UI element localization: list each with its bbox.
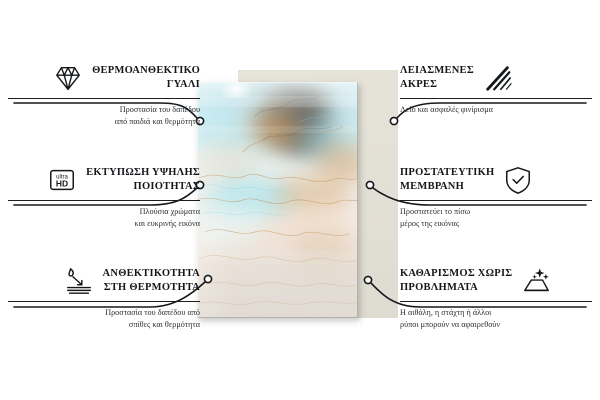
divider xyxy=(8,200,200,201)
feature-title: ΠΡΟΣΤΑΤΕΥΤΙΚΗ ΜΕΜΒΡΑΝΗ xyxy=(400,166,494,194)
feature-title: ΑΝΘΕΚΤΙΚΟΤΗΤΑ ΣΤΗ ΘΕΡΜΟΤΗΤΑ xyxy=(103,267,200,295)
shield-check-icon xyxy=(503,165,533,195)
connector-dot-right-2 xyxy=(366,181,373,188)
easy-cleaning-icon xyxy=(521,266,551,296)
connector-dot-right-3 xyxy=(364,276,371,283)
divider xyxy=(8,98,200,99)
polished-edges-icon xyxy=(483,63,513,93)
feature-description: Προστασία του δαπέδου από παιδιά και θερ… xyxy=(8,104,200,128)
feature-description: Προστατεύει το πίσω μέρος της εικόνας xyxy=(400,206,592,230)
ultra-hd-icon: ultra HD xyxy=(47,165,77,195)
infographic-stage: ΘΕΡΜΟΑΝΘΕΚΤΙΚΟ ΓΥΑΛΙ Προστασία του δαπέδ… xyxy=(0,0,600,400)
feature-easy-cleaning: ΚΑΘΑΡΙΣΜΟΣ ΧΩΡΙΣ ΠΡΟΒΛΗΜΑΤΑ Η αιθάλη, η … xyxy=(400,266,592,331)
feature-heat-resistant-glass: ΘΕΡΜΟΑΝΘΕΚΤΙΚΟ ΓΥΑΛΙ Προστασία του δαπέδ… xyxy=(8,63,200,128)
feature-high-quality-print: ultra HD ΕΚΤΥΠΩΣΗ ΥΨΗΛΗΣ ΠΟΙΟΤΗΤΑΣ Πλούσ… xyxy=(8,165,200,230)
heat-resistance-icon xyxy=(64,266,94,296)
feature-description: Η αιθάλη, η στάχτη ή άλλοι ρύποι μπορούν… xyxy=(400,307,592,331)
divider xyxy=(8,301,200,302)
feature-description: Λείο και ασφαλές φινίρισμα xyxy=(400,104,592,116)
divider xyxy=(400,301,592,302)
feature-title: ΘΕΡΜΟΑΝΘΕΚΤΙΚΟ ΓΥΑΛΙ xyxy=(92,64,200,92)
connector-dot-left-3 xyxy=(204,275,211,282)
svg-text:HD: HD xyxy=(56,179,68,189)
feature-description: Πλούσια χρώματα και ευκρινής εικόνα xyxy=(8,206,200,230)
feature-title: ΛΕΙΑΣΜΕΝΕΣ ΑΚΡΕΣ xyxy=(400,64,474,92)
diamond-icon xyxy=(53,63,83,93)
feature-title: ΕΚΤΥΠΩΣΗ ΥΨΗΛΗΣ ΠΟΙΟΤΗΤΑΣ xyxy=(86,166,200,194)
feature-description: Προστασία του δαπέδου από σπίθες και θερ… xyxy=(8,307,200,331)
feature-heat-durability: ΑΝΘΕΚΤΙΚΟΤΗΤΑ ΣΤΗ ΘΕΡΜΟΤΗΤΑ Προστασία το… xyxy=(8,266,200,331)
divider xyxy=(400,200,592,201)
connector-dot-right-1 xyxy=(390,117,397,124)
feature-title: ΚΑΘΑΡΙΣΜΟΣ ΧΩΡΙΣ ΠΡΟΒΛΗΜΑΤΑ xyxy=(400,267,512,295)
feature-protective-membrane: ΠΡΟΣΤΑΤΕΥΤΙΚΗ ΜΕΜΒΡΑΝΗ Προστατεύει το πί… xyxy=(400,165,592,230)
divider xyxy=(400,98,592,99)
feature-polished-edges: ΛΕΙΑΣΜΕΝΕΣ ΑΚΡΕΣ Λείο και ασφαλές φινίρι… xyxy=(400,63,592,116)
